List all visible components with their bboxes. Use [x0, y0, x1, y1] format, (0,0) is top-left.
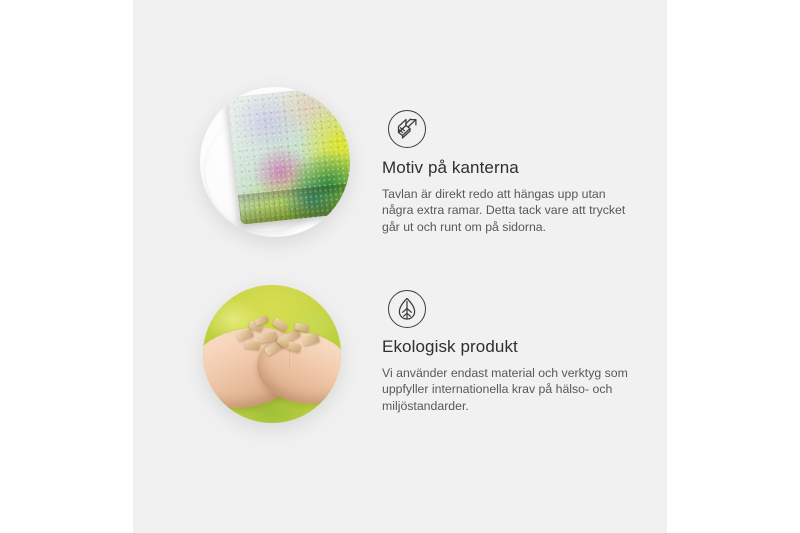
feature-text-eko: Ekologisk produkt Vi använder endast mat…: [382, 336, 644, 414]
feature-description-motiv: Tavlan är direkt redo att hängas upp uta…: [382, 186, 632, 235]
hands-holding-wood-chips-photo: [203, 285, 341, 423]
feature-description-eko: Vi använder endast material och verktyg …: [382, 365, 644, 414]
canvas-wrapped-edges-icon: [388, 110, 426, 148]
feature-text-motiv: Motiv på kanterna Tavlan är direkt redo …: [382, 157, 632, 235]
feature-title-motiv: Motiv på kanterna: [382, 157, 632, 179]
content-background-panel: [133, 0, 667, 533]
product-feature-panel: Motiv på kanterna Tavlan är direkt redo …: [0, 0, 800, 533]
leaf-icon: [388, 290, 426, 328]
wood-chips-pile: [233, 315, 325, 363]
canvas-print-block: [228, 87, 350, 225]
canvas-print-on-white-pedestal-photo: [200, 87, 350, 237]
feature-title-eko: Ekologisk produkt: [382, 336, 644, 358]
